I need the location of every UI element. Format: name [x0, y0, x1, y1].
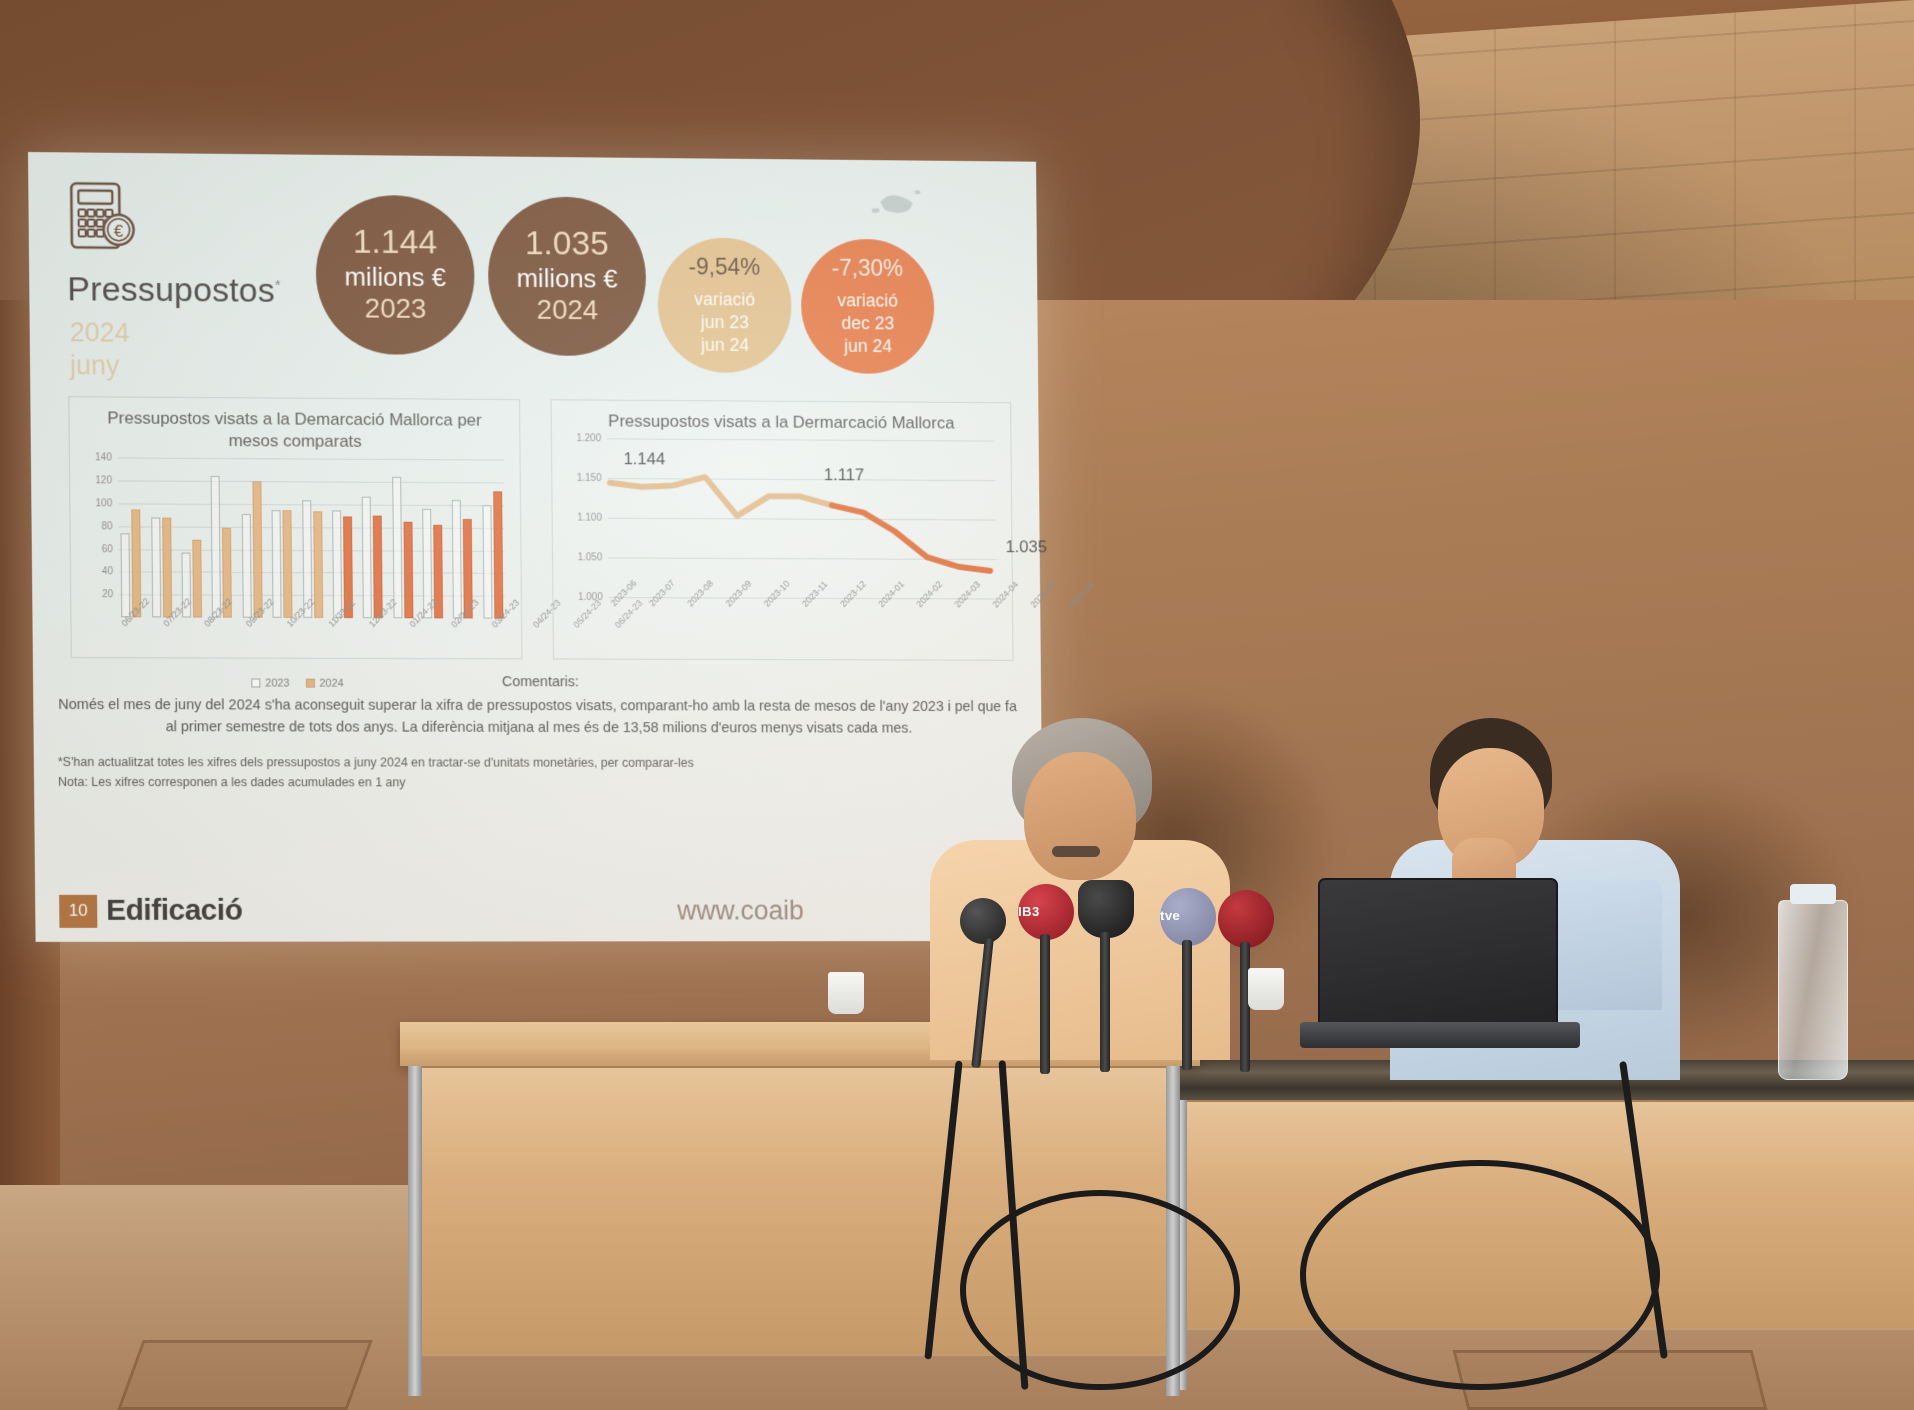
- bar-y-tick: 40: [83, 566, 113, 577]
- bar-group: [390, 459, 416, 618]
- bar-2023: [121, 533, 131, 617]
- bar-chart-title: Pressupostos visats a la Demarcació Mall…: [81, 407, 507, 454]
- bar-2024: [373, 516, 383, 618]
- bar-y-tick: 140: [82, 452, 112, 463]
- balearic-islands-icon: [870, 186, 923, 222]
- kpi-value: -9,54%: [688, 253, 760, 280]
- legend-swatch-2023: [251, 679, 260, 688]
- bar-y-tick: 100: [82, 498, 112, 509]
- bottle-cap: [1790, 884, 1836, 904]
- microphone-head: [960, 898, 1006, 944]
- projected-slide: € Pressupostos* 2024 juny 1.144 milions …: [28, 152, 1043, 942]
- legend-item-2024: 2024: [305, 678, 343, 690]
- kpi-period: 2023: [365, 293, 427, 325]
- bar-group: [178, 458, 204, 618]
- bar-2024: [493, 492, 503, 619]
- bar-group: [269, 458, 295, 618]
- calculator-euro-icon: €: [68, 180, 141, 261]
- bar-2023: [151, 517, 161, 617]
- comments-body: Només el mes de juny del 2024 s'ha acons…: [58, 697, 1017, 737]
- kpi-value: -7,30%: [832, 255, 903, 282]
- microphone-stem: [1040, 934, 1050, 1074]
- bar-group: [209, 458, 235, 618]
- title-asterisk: *: [275, 277, 281, 294]
- coffee-cup-left: [828, 972, 864, 1014]
- line-chart-x-labels: 2023-062023-072023-082023-092023-102023-…: [609, 597, 1044, 652]
- kpi-circle-variation-dec: -7,30% variació dec 23 jun 24: [801, 239, 935, 374]
- slide-month: juny: [70, 349, 130, 382]
- kpi-value: 1.144: [353, 225, 438, 261]
- footnote-asterisk: *S'han actualitzat totes les xifres dels…: [58, 752, 1019, 773]
- kpi-label-line1: variació: [694, 288, 755, 311]
- laptop-screen[interactable]: [1318, 878, 1558, 1026]
- slide-number-badge: 10: [59, 894, 97, 927]
- bar-2023: [211, 476, 221, 617]
- bar-chart-x-labels: 06/23-2207/23-2208/23-2209/23-2210/23-22…: [119, 617, 545, 672]
- bar-2023: [242, 514, 252, 618]
- cable-loop-2: [1300, 1160, 1660, 1390]
- slide-footer: 10 Edificació www.coaib: [59, 894, 1020, 928]
- line-chart-card: Pressupostos visats a la Dermarcació Mal…: [551, 399, 1014, 660]
- bar-group: [360, 459, 386, 618]
- bar-y-tick: 120: [82, 475, 112, 486]
- water-bottle: [1778, 900, 1848, 1080]
- floor-tile: [117, 1340, 372, 1410]
- kpi-unit: milions €: [344, 260, 446, 293]
- line-segment: [832, 505, 990, 571]
- line-chart-title: Pressupostos visats a la Dermarcació Mal…: [563, 410, 998, 435]
- bar-2023: [392, 477, 402, 618]
- microphone-stem: [1240, 942, 1250, 1072]
- bar-chart-card: Pressupostos visats a la Demarcació Mall…: [68, 396, 522, 659]
- kpi-label-line2: jun 23: [694, 311, 755, 334]
- slide-year: 2024: [70, 316, 130, 349]
- laptop-base[interactable]: [1300, 1022, 1580, 1048]
- bar-2023: [452, 500, 462, 618]
- kpi-unit: milions €: [516, 261, 617, 294]
- kpi-circle-variation-jun: -9,54% variació jun 23 jun 24: [657, 237, 792, 373]
- legend-swatch-2024: [305, 679, 314, 688]
- website-url: www.coaib: [677, 895, 804, 926]
- slide-period: 2024 juny: [70, 316, 131, 382]
- kpi-label-line3: jun 24: [838, 335, 899, 358]
- kpi-label-line1: variació: [837, 289, 898, 312]
- footnotes-block: *S'han actualitzat totes les xifres dels…: [58, 752, 1019, 793]
- bar-chart-legend: 2023 2024: [84, 677, 510, 690]
- microphone-stem: [1100, 932, 1110, 1072]
- line-data-label: 1.144: [623, 449, 665, 469]
- speaker-left-head: [1024, 752, 1136, 880]
- bar-group: [450, 459, 476, 618]
- bar-2024: [283, 510, 293, 618]
- cable-loop-1: [960, 1190, 1240, 1390]
- bar-2024: [403, 522, 413, 619]
- press-conference-scene: € Pressupostos* 2024 juny 1.144 milions …: [0, 0, 1914, 1410]
- microphone-stem: [1182, 940, 1192, 1070]
- kpi-circle-budget-2023: 1.144 milions € 2023: [315, 195, 475, 355]
- bar-group: [299, 459, 325, 618]
- bar-group: [329, 459, 355, 618]
- bar-chart-plot: 14012010080604020: [82, 457, 509, 618]
- bar-group: [148, 458, 174, 618]
- bar-2023: [482, 505, 492, 619]
- charts-row: Pressupostos visats a la Demarcació Mall…: [54, 396, 1017, 667]
- page-title: Pressupostos*: [67, 270, 281, 311]
- bar-2023: [362, 497, 372, 619]
- line-data-label: 1.035: [1005, 537, 1047, 557]
- bar-2023: [332, 510, 342, 618]
- bar-group: [118, 458, 144, 618]
- line-chart-plot: 1.2001.1501.1001.0501.000 1.1441.1171.03…: [564, 438, 1001, 598]
- bar-y-tick: 20: [83, 589, 113, 600]
- kpi-period: 2024: [537, 294, 599, 326]
- line-segment: [610, 477, 832, 517]
- bar-y-tick: 80: [82, 520, 112, 531]
- bar-y-tick: 60: [83, 543, 113, 554]
- slide-header: € Pressupostos* 2024 juny 1.144 milions …: [52, 170, 1015, 398]
- microphone-head: [1218, 890, 1274, 948]
- speaker-left-moustache: [1052, 846, 1100, 857]
- section-label: Edificació: [106, 894, 242, 928]
- bar-group: [420, 459, 446, 618]
- bar-2024: [162, 517, 172, 617]
- bar-2024: [192, 540, 202, 618]
- legend-item-2023: 2023: [251, 678, 289, 690]
- microphone-head: [1078, 880, 1134, 938]
- kpi-value: 1.035: [525, 226, 609, 262]
- bar-group: [239, 458, 265, 618]
- kpi-label-line2: dec 23: [837, 312, 898, 335]
- footnote-note: Nota: Les xifres corresponen a les dades…: [58, 772, 1019, 793]
- kpi-circle-budget-2024: 1.035 milions € 2024: [487, 196, 646, 356]
- coffee-cup-right: [1248, 968, 1284, 1010]
- line-data-label: 1.117: [824, 466, 865, 486]
- svg-text:€: €: [114, 222, 124, 241]
- kpi-label-line3: jun 24: [695, 334, 756, 357]
- bar-2024: [252, 481, 262, 618]
- table-left-leg-1: [408, 1066, 422, 1396]
- bar-group: [480, 460, 506, 619]
